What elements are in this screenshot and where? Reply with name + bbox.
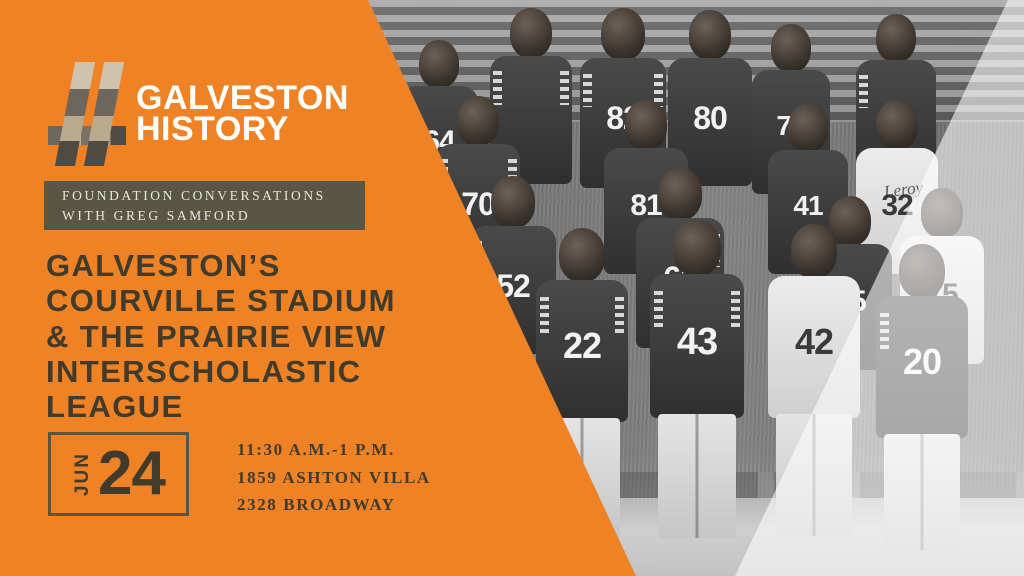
player-head [673, 220, 721, 276]
event-address: 2328 BROADWAY [237, 491, 431, 519]
player-head [457, 96, 499, 146]
jersey-number: 43 [677, 323, 717, 361]
player-head [658, 168, 702, 220]
sleeve-stripe [540, 297, 549, 334]
player-head [899, 244, 945, 298]
event-title: GALVESTON’S COURVILLE STADIUM & THE PRAI… [46, 248, 516, 425]
player-head [559, 228, 605, 282]
jersey-number: 22 [563, 328, 601, 364]
player-torso: 43 [650, 274, 744, 418]
sleeve-stripe [583, 74, 592, 108]
hashtag-collage-icon [48, 62, 126, 166]
player-legs [658, 414, 736, 538]
player-head [625, 100, 667, 150]
date-badge: JUN 24 [48, 432, 189, 516]
sleeve-stripe [560, 71, 569, 104]
player: 42 [768, 224, 860, 556]
player-legs [884, 434, 960, 550]
player: 20 [876, 244, 968, 564]
event-title-line3: & THE PRAIRIE VIEW [46, 319, 516, 354]
series-banner-line2: WITH GREG SAMFORD [62, 206, 365, 226]
event-title-line2: COURVILLE STADIUM [46, 283, 516, 318]
series-banner: FOUNDATION CONVERSATIONS WITH GREG SAMFO… [44, 181, 365, 230]
event-venue: 1859 ASHTON VILLA [237, 464, 431, 492]
sleeve-stripe [880, 313, 889, 350]
sleeve-stripe [731, 291, 740, 328]
logo-wordmark: GALVESTON HISTORY [136, 83, 349, 146]
logo-line-history: HISTORY [136, 114, 349, 145]
player-head [788, 104, 828, 152]
player-head [921, 188, 963, 238]
event-time: 11:30 A.M.-1 P.M. [237, 436, 431, 464]
event-title-line1: GALVESTON’S [46, 248, 516, 283]
sleeve-stripe [654, 291, 663, 328]
event-flyer: 64 82 80 76 [0, 0, 1024, 576]
player-head [601, 8, 645, 60]
date-month: JUN [72, 452, 94, 496]
player-head [876, 14, 916, 62]
player-head [491, 176, 535, 228]
player-head [771, 24, 811, 72]
player-head [510, 8, 552, 58]
jersey-number: 20 [903, 344, 941, 380]
player-head [791, 224, 837, 278]
player: 43 [650, 220, 744, 556]
event-title-line5: LEAGUE [46, 389, 516, 424]
player-torso: 20 [876, 296, 968, 438]
player-head [419, 40, 459, 88]
jersey-number: 42 [795, 324, 833, 360]
galveston-history-logo[interactable]: GALVESTON HISTORY [48, 62, 349, 166]
series-banner-line1: FOUNDATION CONVERSATIONS [62, 186, 365, 206]
sleeve-stripe [615, 297, 624, 334]
jersey-number: 80 [693, 102, 727, 134]
event-details: 11:30 A.M.-1 P.M. 1859 ASHTON VILLA 2328… [237, 436, 431, 519]
date-day: 24 [98, 447, 165, 500]
event-datetime-block: JUN 24 11:30 A.M.-1 P.M. 1859 ASHTON VIL… [48, 432, 431, 519]
player-legs [776, 414, 852, 536]
player-head [689, 10, 731, 60]
flyer-content: GALVESTON HISTORY FOUNDATION CONVERSATIO… [0, 0, 420, 576]
player-torso: 42 [768, 276, 860, 418]
event-title-line4: INTERSCHOLASTIC [46, 354, 516, 389]
player-head [876, 100, 918, 150]
